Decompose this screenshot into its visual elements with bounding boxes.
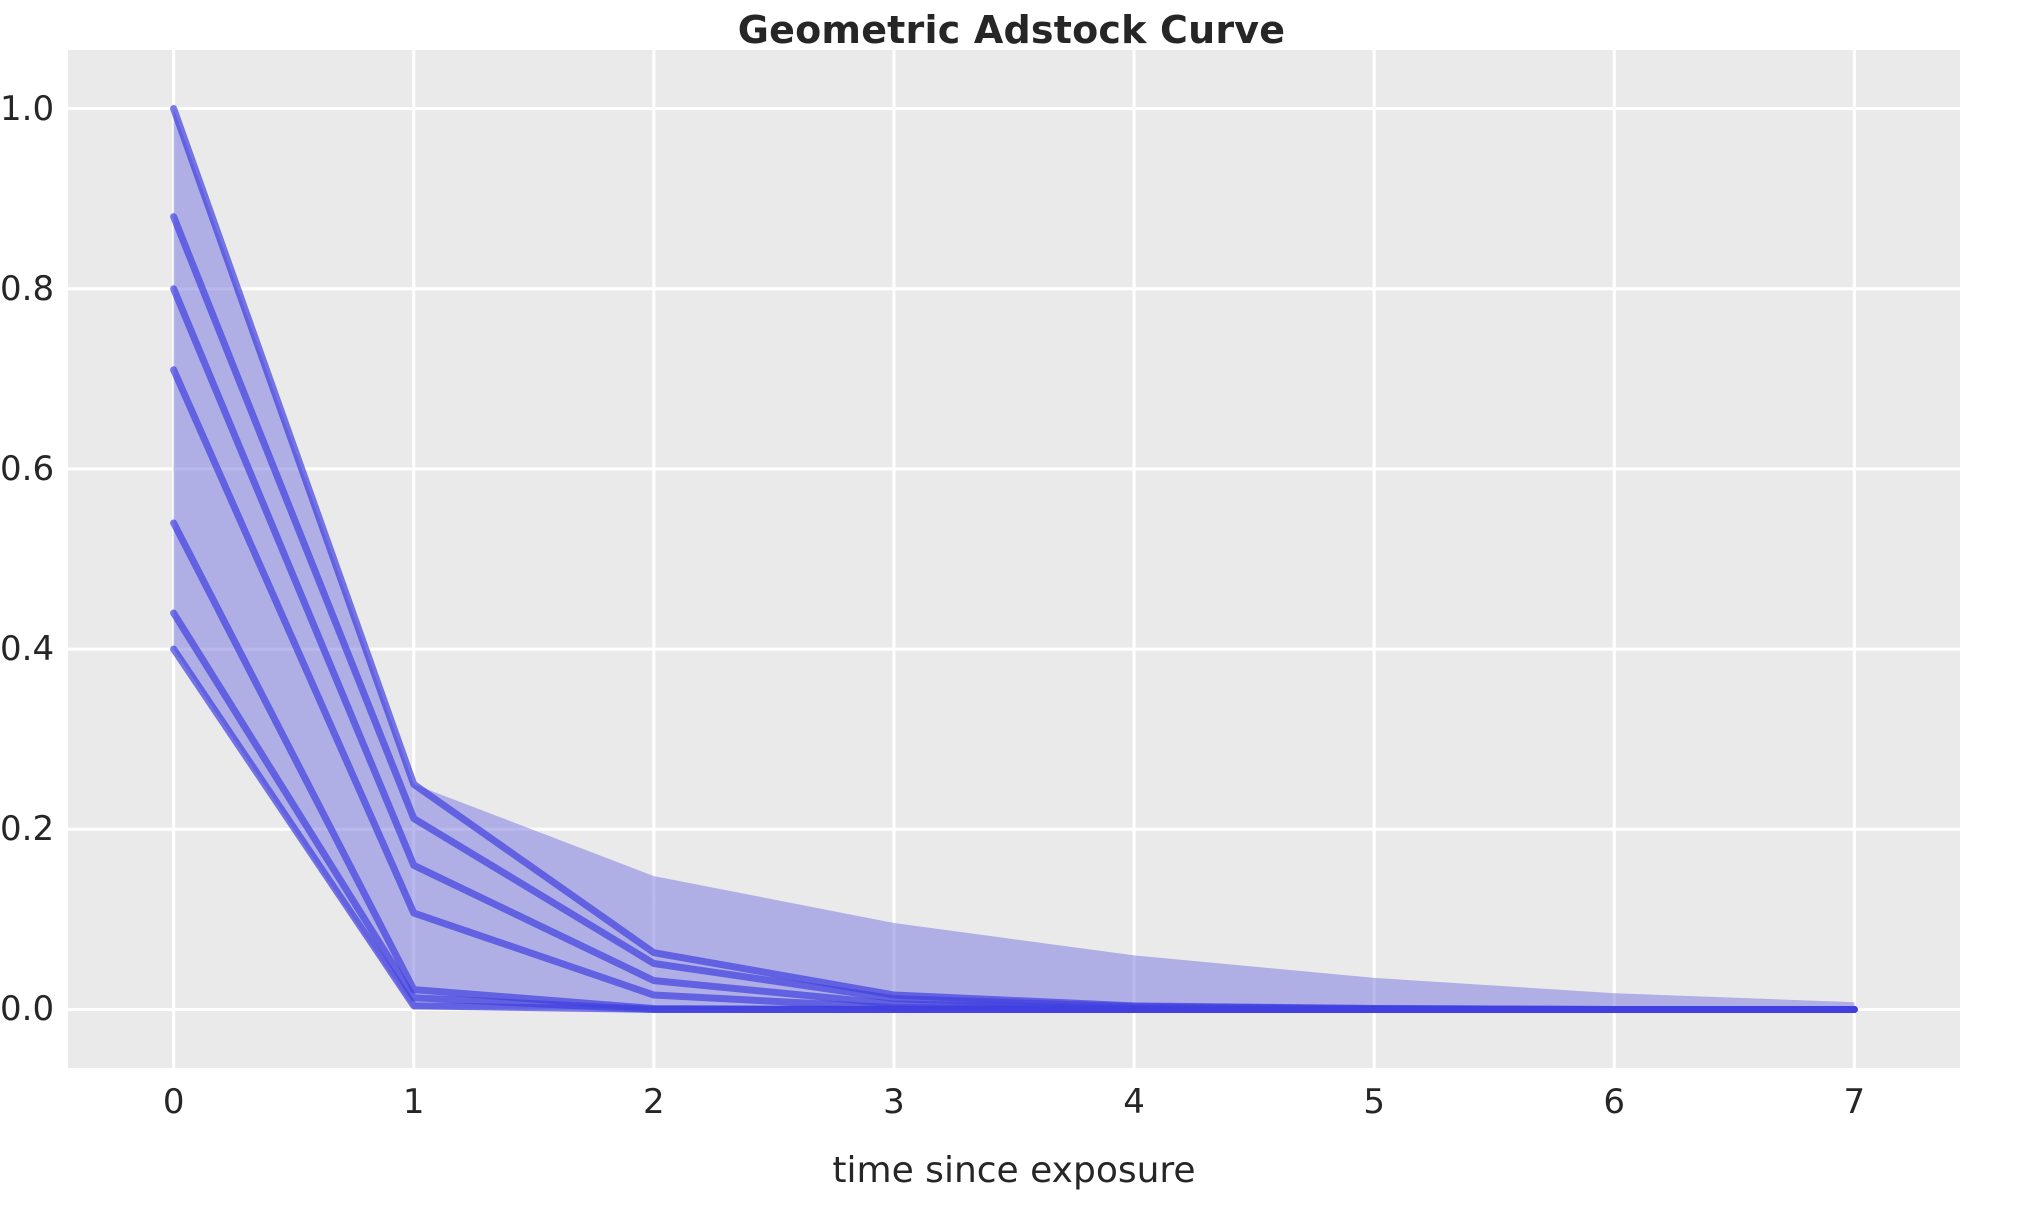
x-axis-tick-label: 3 [883,1082,905,1122]
x-axis-tick-label: 7 [1844,1082,1866,1122]
adstock-lines [174,109,1855,1010]
plot-svg [68,50,1960,1068]
chart-title: Geometric Adstock Curve [0,8,2023,52]
x-axis-tick-label: 6 [1603,1082,1625,1122]
x-axis-tick-label: 4 [1123,1082,1145,1122]
x-axis-label: time since exposure [68,1150,1960,1191]
adstock-line [174,370,1855,1010]
plot-area [68,50,1960,1068]
y-axis-tick-label: 0.8 [0,269,50,309]
y-axis-tick-label: 0.6 [0,449,50,489]
x-axis-tick-label: 0 [163,1082,185,1122]
y-axis-tick-label: 0.0 [0,989,50,1029]
x-axis-tick-label: 2 [643,1082,665,1122]
x-axis-tick-label: 5 [1363,1082,1385,1122]
y-axis-tick-label: 0.2 [0,809,50,849]
y-axis-tick-label: 0.4 [0,629,50,669]
x-axis-tick-label: 1 [403,1082,425,1122]
y-axis-tick-label: 1.0 [0,89,50,129]
chart-figure: Geometric Adstock Curve 0.00.20.40.60.81… [0,0,2023,1223]
